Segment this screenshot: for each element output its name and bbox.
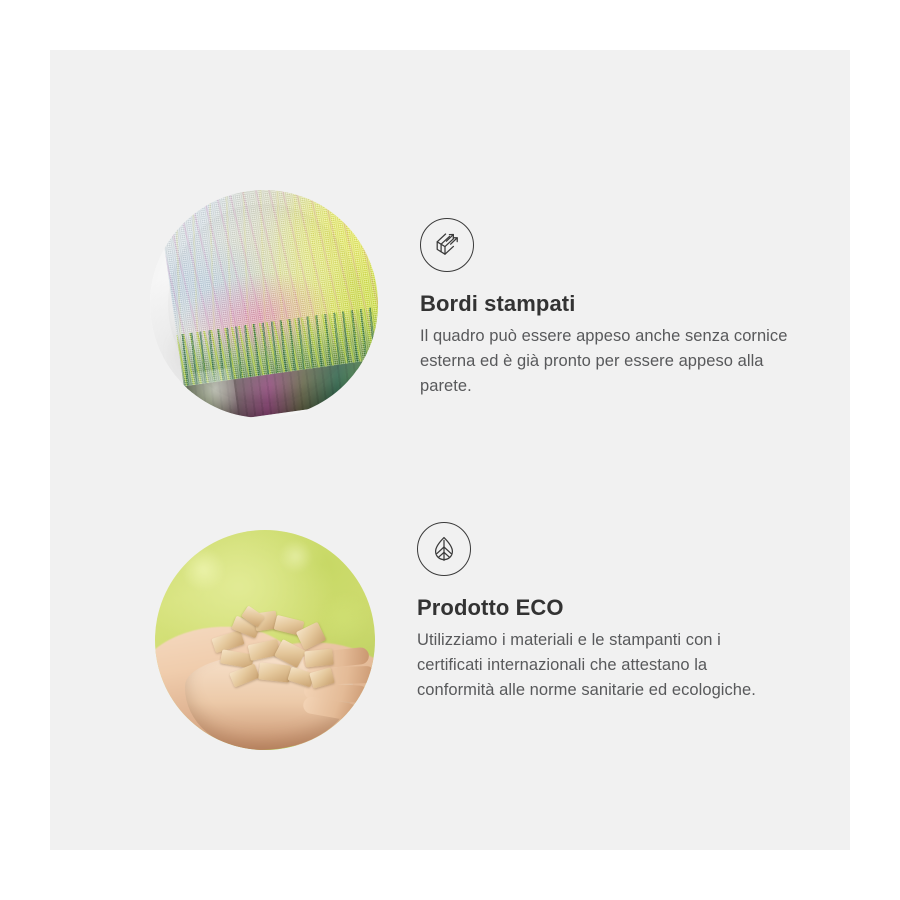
feature-text-eco-product: Prodotto ECO Utilizziamo i materiali e l… [417,522,789,703]
wood-chips-pile [207,608,347,700]
wood-chip [258,662,291,682]
feature-title: Bordi stampati [420,290,792,318]
wood-chip [248,639,281,661]
feature-title: Prodotto ECO [417,594,789,622]
product-feature-page: Bordi stampati Il quadro può essere appe… [0,0,900,900]
printed-edges-icon [420,218,474,272]
photo-backdrop [150,190,378,418]
canvas-print-object [158,190,378,418]
canvas-print-corner-photo [150,190,378,418]
feature-text-printed-edges: Bordi stampati Il quadro può essere appe… [420,218,792,399]
content-panel: Bordi stampati Il quadro può essere appe… [50,50,850,850]
hands-holding-wood-chips-photo [155,530,375,750]
wood-chip [304,649,334,668]
wood-chip [229,663,260,687]
photo-backdrop [155,530,375,750]
wood-chip [309,667,335,688]
feature-block-eco-product: Prodotto ECO Utilizziamo i materiali e l… [150,480,789,750]
leaf-icon [417,522,471,576]
corner-highlight [182,368,239,418]
feature-description: Il quadro può essere appeso anche senza … [420,324,792,399]
feature-block-printed-edges: Bordi stampati Il quadro può essere appe… [150,190,792,418]
feature-description: Utilizziamo i materiali e le stampanti c… [417,628,789,703]
